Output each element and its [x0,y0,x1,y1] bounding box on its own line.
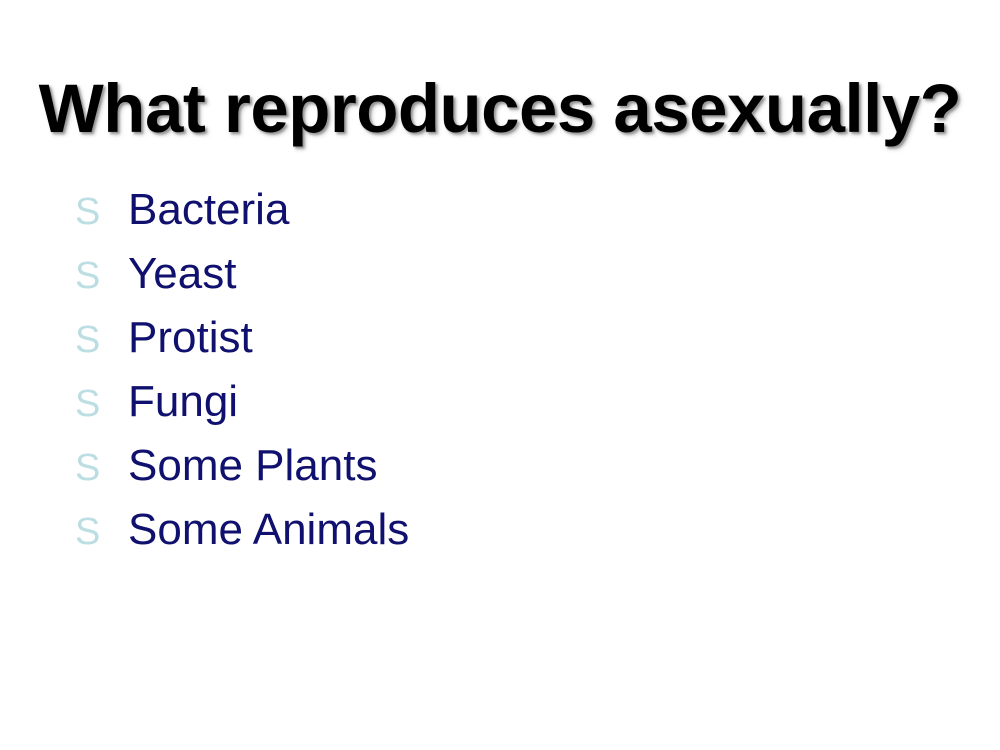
list-item: S Bacteria [75,178,935,242]
list-item-label: Fungi [128,370,238,434]
bullet-list: S Bacteria S Yeast S Protist S Fungi S S… [75,178,935,562]
bullet-marker-icon: S [75,372,128,436]
list-item-label: Yeast [128,242,236,306]
list-item: S Some Plants [75,434,935,498]
list-item: S Some Animals [75,498,935,562]
bullet-marker-icon: S [75,180,128,244]
list-item-label: Protist [128,306,253,370]
list-item: S Fungi [75,370,935,434]
list-item: S Protist [75,306,935,370]
list-item-label: Some Animals [128,498,409,562]
bullet-marker-icon: S [75,308,128,372]
page-title: What reproduces asexually? [0,74,1000,143]
bullet-marker-icon: S [75,436,128,500]
bullet-marker-icon: S [75,244,128,308]
list-item: S Yeast [75,242,935,306]
list-item-label: Bacteria [128,178,289,242]
list-item-label: Some Plants [128,434,377,498]
bullet-marker-icon: S [75,500,128,564]
slide-canvas: What reproduces asexually? S Bacteria S … [0,0,1000,750]
